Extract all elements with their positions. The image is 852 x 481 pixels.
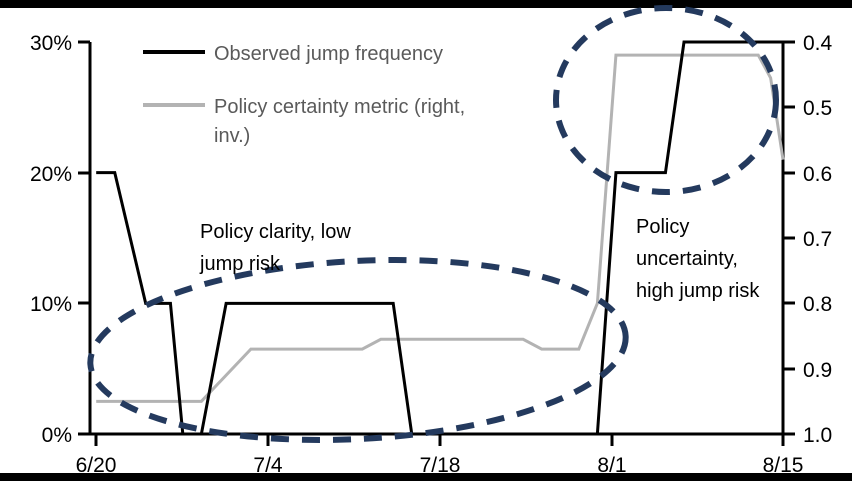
x-axis-tick-1: 7/4: [253, 454, 283, 477]
right-axis-tick-05: 0.5: [803, 97, 832, 120]
x-axis-tick-2: 7/18: [420, 454, 461, 477]
annotation-low-risk-line1: Policy clarity, low: [200, 221, 351, 243]
right-axis-tick-08: 0.8: [803, 293, 832, 316]
legend-label-policy-certainty-cont: inv.): [214, 125, 250, 147]
left-axis-tick-20: 20%: [30, 163, 72, 186]
right-axis-tick-09: 0.9: [803, 359, 832, 382]
left-axis-tick-30: 30%: [30, 32, 72, 55]
annotation-high-risk: Policy uncertainty, high jump risk: [636, 216, 760, 302]
left-axis-tick-0: 0%: [42, 424, 72, 447]
x-axis-tick-3: 8/1: [597, 454, 626, 477]
x-axis-tick-4: 8/15: [763, 454, 804, 477]
annotation-high-risk-line2: uncertainty,: [636, 248, 738, 270]
right-axis: [783, 42, 795, 434]
right-axis-tick-06: 0.6: [803, 163, 832, 186]
annotation-high-risk-line1: Policy: [636, 216, 689, 238]
right-axis-tick-10: 1.0: [803, 424, 832, 447]
right-axis-tick-04: 0.4: [803, 32, 833, 55]
left-axis-tick-10: 10%: [30, 293, 72, 316]
legend-label-observed-jump: Observed jump frequency: [214, 43, 443, 65]
annotation-low-risk: Policy clarity, low jump risk: [199, 221, 351, 275]
x-axis-tick-0: 6/20: [76, 454, 117, 477]
chart-canvas: 30% 20% 10% 0% 0.4 0.5 0.6 0.7 0.8 0.9 1…: [0, 0, 852, 481]
right-axis-tick-07: 0.7: [803, 228, 832, 251]
left-axis: [78, 42, 90, 434]
annotation-low-risk-line2: jump risk: [199, 253, 281, 275]
chart-figure: 30% 20% 10% 0% 0.4 0.5 0.6 0.7 0.8 0.9 1…: [0, 0, 852, 481]
legend-label-policy-certainty: Policy certainty metric (right,: [214, 96, 465, 118]
annotation-high-risk-line3: high jump risk: [636, 280, 760, 302]
bottom-axis: [90, 434, 783, 446]
chart-legend: Observed jump frequency Policy certainty…: [143, 43, 465, 147]
